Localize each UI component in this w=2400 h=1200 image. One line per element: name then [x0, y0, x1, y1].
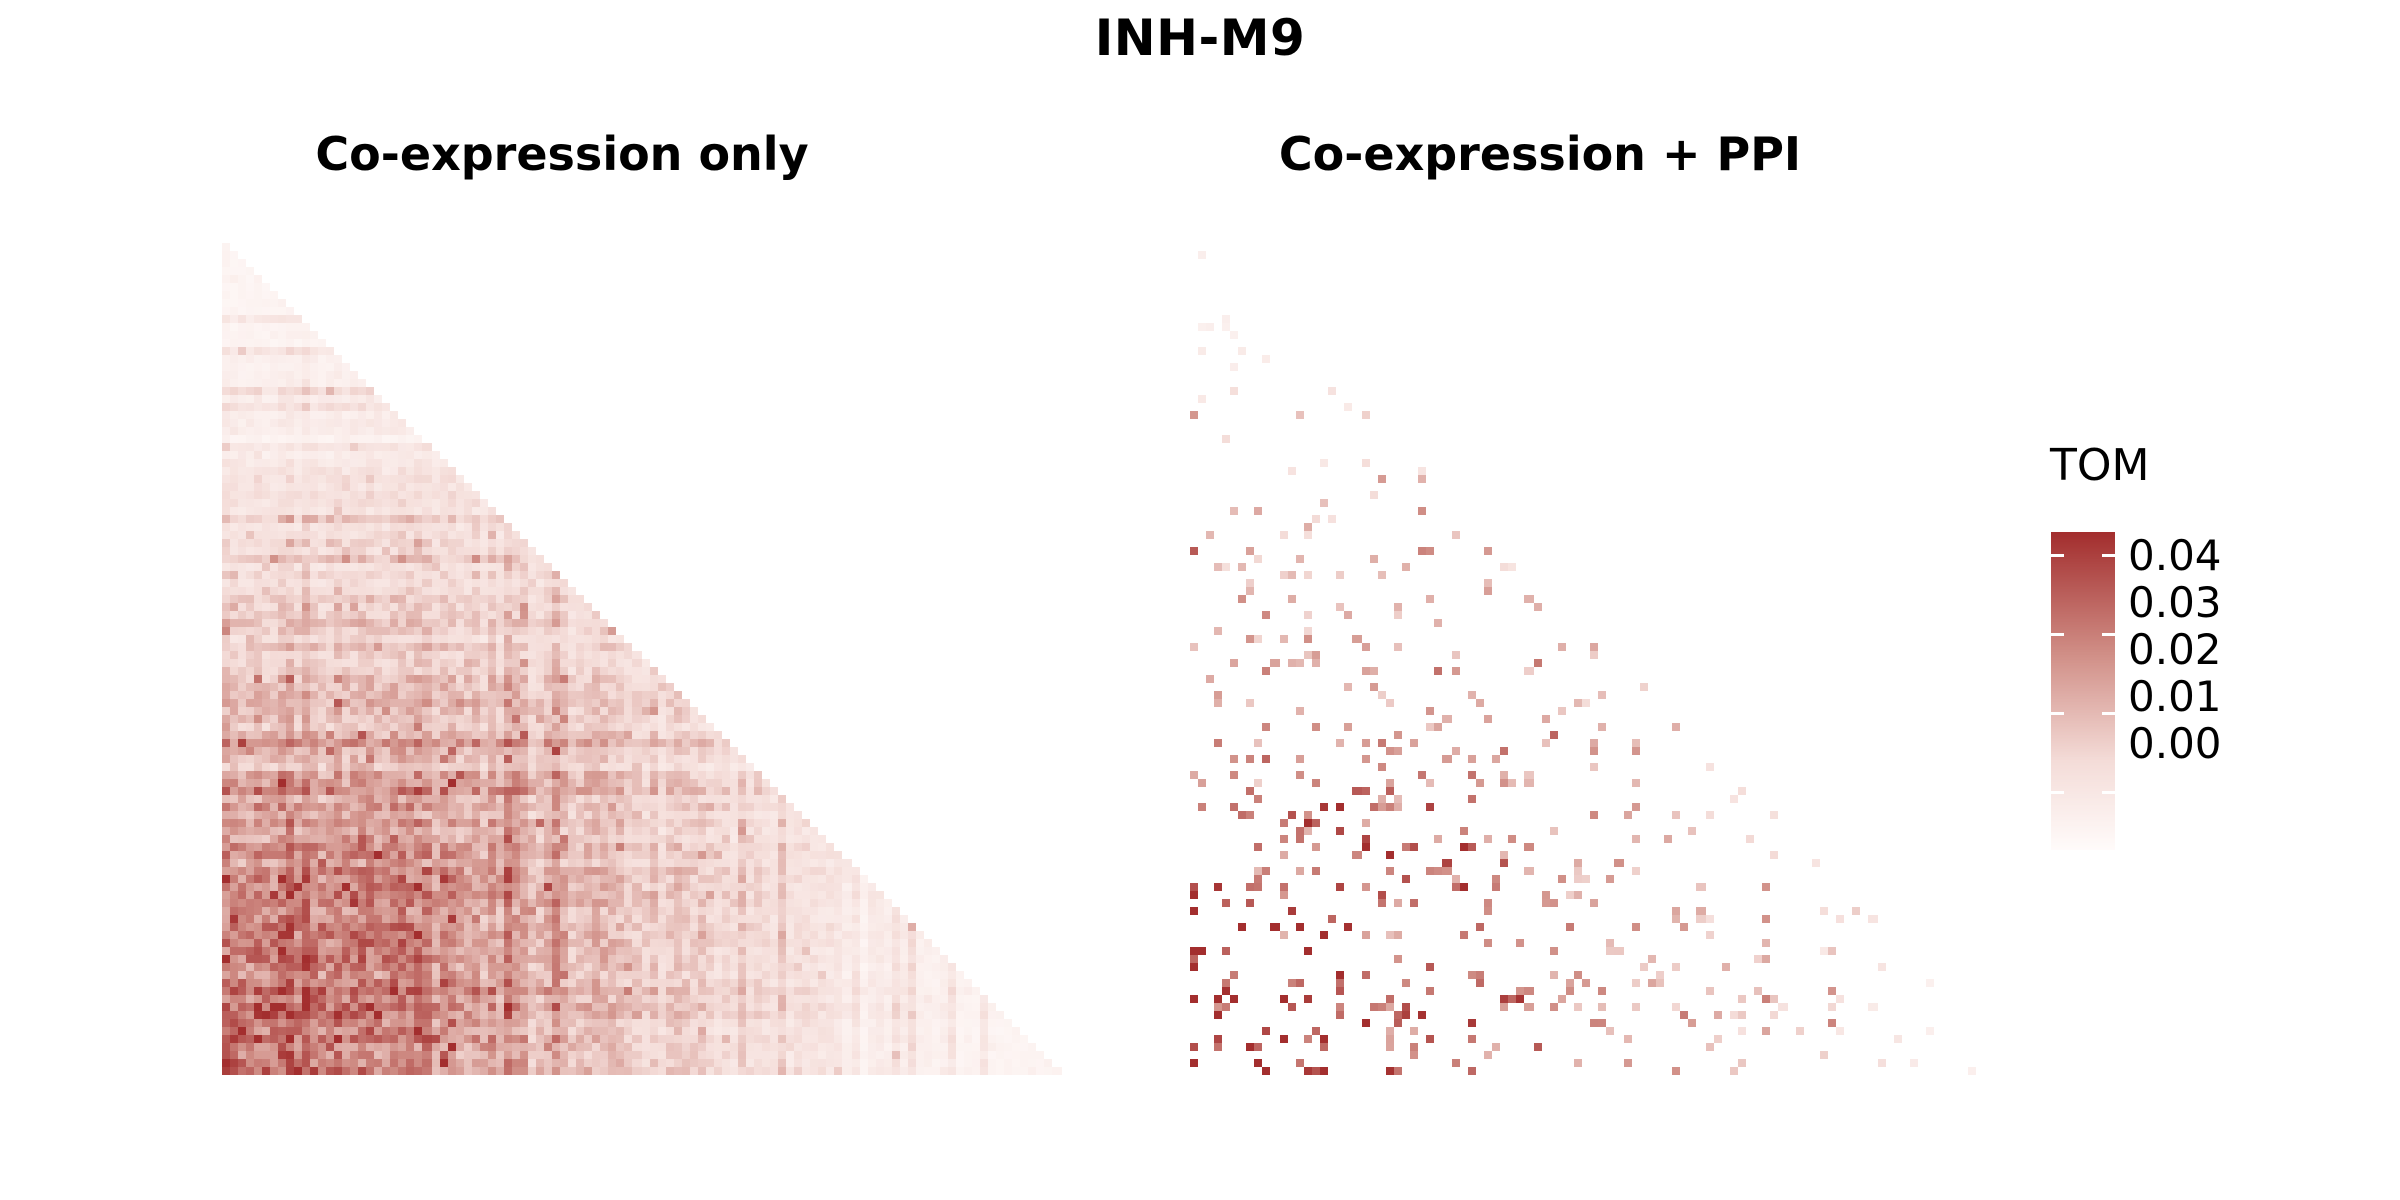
- colorbar-tick-0-04-right: [2102, 554, 2115, 557]
- colorbar-tick-0-04-left: [2051, 554, 2064, 557]
- figure-root: INH-M9 Co-expression only Co-expression …: [0, 0, 2400, 1200]
- colorbar-label-0-01: 0.01: [2128, 673, 2222, 721]
- colorbar-legend: TOM 0.040.030.020.010.00: [2048, 440, 2378, 910]
- colorbar-tick-0-02-right: [2102, 712, 2115, 715]
- colorbar-label-0-02: 0.02: [2128, 626, 2222, 674]
- heatmap-canvas-coexpression-only: [222, 243, 1062, 1075]
- colorbar-tick-0-03-left: [2051, 633, 2064, 636]
- figure-title: INH-M9: [0, 8, 2400, 68]
- heatmap-canvas-coexpression-plus-ppi: [1190, 243, 2042, 1075]
- colorbar-label-0-04: 0.04: [2128, 532, 2222, 580]
- panel-title-coexpression-only: Co-expression only: [142, 125, 982, 183]
- colorbar-tick-0-02-left: [2051, 712, 2064, 715]
- heatmap-coexpression-only: [222, 243, 1062, 1075]
- colorbar-tick-0-03-right: [2102, 633, 2115, 636]
- heatmap-coexpression-plus-ppi: [1190, 243, 2042, 1075]
- panel-title-coexpression-plus-ppi: Co-expression + PPI: [1080, 125, 2000, 183]
- colorbar-title: TOM: [2050, 440, 2149, 492]
- colorbar-label-0-00: 0.00: [2128, 720, 2222, 768]
- colorbar-tick-0-01-right: [2102, 791, 2115, 794]
- colorbar-gradient: [2051, 532, 2115, 850]
- colorbar-label-0-03: 0.03: [2128, 579, 2222, 627]
- colorbar-tick-0-01-left: [2051, 791, 2064, 794]
- colorbar-wrap: [2051, 532, 2115, 850]
